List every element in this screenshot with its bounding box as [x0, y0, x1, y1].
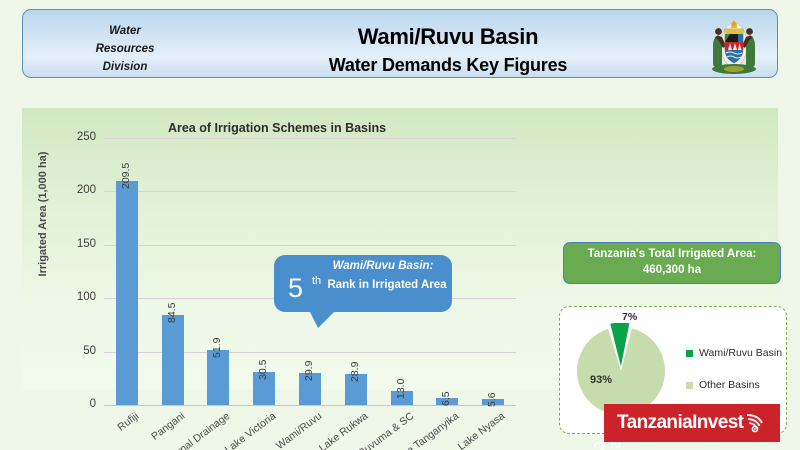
y-axis-tick-label: 100: [60, 291, 96, 303]
y-axis-title: Irrigated Area (1,000 ha): [37, 129, 49, 299]
y-axis-tick-label: 50: [60, 345, 96, 357]
division-line-1: Water: [61, 23, 189, 41]
bar-chart: Area of Irrigation Schemes in Basins Irr…: [22, 108, 534, 390]
bar-value-label: 13.0: [395, 379, 407, 399]
bar-value-label: 51.9: [211, 337, 223, 357]
page-title: Wami/Ruvu Basin Water Demands Key Figure…: [213, 24, 683, 77]
pie-legend-item-wami-ruvu: Wami/Ruvu Basin: [686, 347, 782, 359]
rank-number: 5: [288, 275, 303, 302]
x-axis-tick-label: Rufiji: [57, 410, 141, 450]
callout-line-2: Rank in Irrigated Area: [326, 279, 448, 291]
title-line-1: Wami/Ruvu Basin: [213, 24, 683, 50]
logo-text: TanzaniaInvest: [617, 412, 743, 434]
bar-value-label: 6.5: [440, 391, 452, 406]
rank-suffix: th: [312, 275, 321, 287]
bar: [116, 181, 138, 405]
bar-value-label: 29.9: [303, 361, 315, 381]
tanzania-swirl-icon: [744, 412, 766, 434]
y-axis-tick-label: 250: [60, 131, 96, 143]
total-box-line-1: Tanzania's Total Irrigated Area:: [588, 247, 757, 263]
division-line-3: Division: [61, 59, 189, 77]
callout-line-1: Wami/Ruvu Basin:: [320, 260, 446, 272]
y-axis-tick-label: 150: [60, 238, 96, 250]
total-irrigated-area-box: Tanzania's Total Irrigated Area: 460,300…: [563, 242, 781, 284]
tanzania-coat-of-arms-icon: [705, 15, 763, 75]
y-axis-tick-label: 0: [60, 398, 96, 410]
bar-value-label: 209.5: [120, 163, 132, 189]
division-label: Water Resources Division: [61, 23, 189, 76]
content-panel: Area of Irrigation Schemes in Basins Irr…: [22, 108, 778, 390]
y-axis-tick-label: 200: [60, 184, 96, 196]
pie-label-wami-ruvu: 7%: [622, 311, 637, 323]
pie-label-other-basins: 93%: [590, 374, 612, 386]
title-line-2: Water Demands Key Figures: [213, 55, 683, 77]
total-box-line-2: 460,300 ha: [643, 263, 701, 279]
slide-header-bar: Water Resources Division Wami/Ruvu Basin…: [22, 9, 778, 78]
bar: [162, 315, 184, 405]
bar-value-label: 30.5: [257, 360, 269, 380]
bar-value-label: 5.6: [486, 392, 498, 407]
x-axis-line: [104, 405, 516, 406]
callout-tail: [309, 310, 336, 328]
legend-label-wami-ruvu: Wami/Ruvu Basin: [699, 347, 782, 359]
legend-label-other-basins: Other Basins: [699, 379, 760, 391]
legend-swatch-other-basins: [686, 382, 693, 389]
division-line-2: Resources: [61, 41, 189, 59]
bar-value-label: 28.9: [349, 362, 361, 382]
gridline: [104, 245, 516, 246]
bar-value-label: 84.5: [166, 302, 178, 322]
bar-chart-title: Area of Irrigation Schemes in Basins: [112, 121, 442, 135]
gridline: [104, 138, 516, 139]
gridline: [104, 191, 516, 192]
tanzaniainvest-logo[interactable]: TanzaniaInvest: [604, 404, 780, 442]
rank-callout: 5 th Wami/Ruvu Basin: Rank in Irrigated …: [274, 255, 452, 312]
pie-legend-item-other-basins: Other Basins: [686, 379, 760, 391]
legend-swatch-wami-ruvu: [686, 350, 693, 357]
